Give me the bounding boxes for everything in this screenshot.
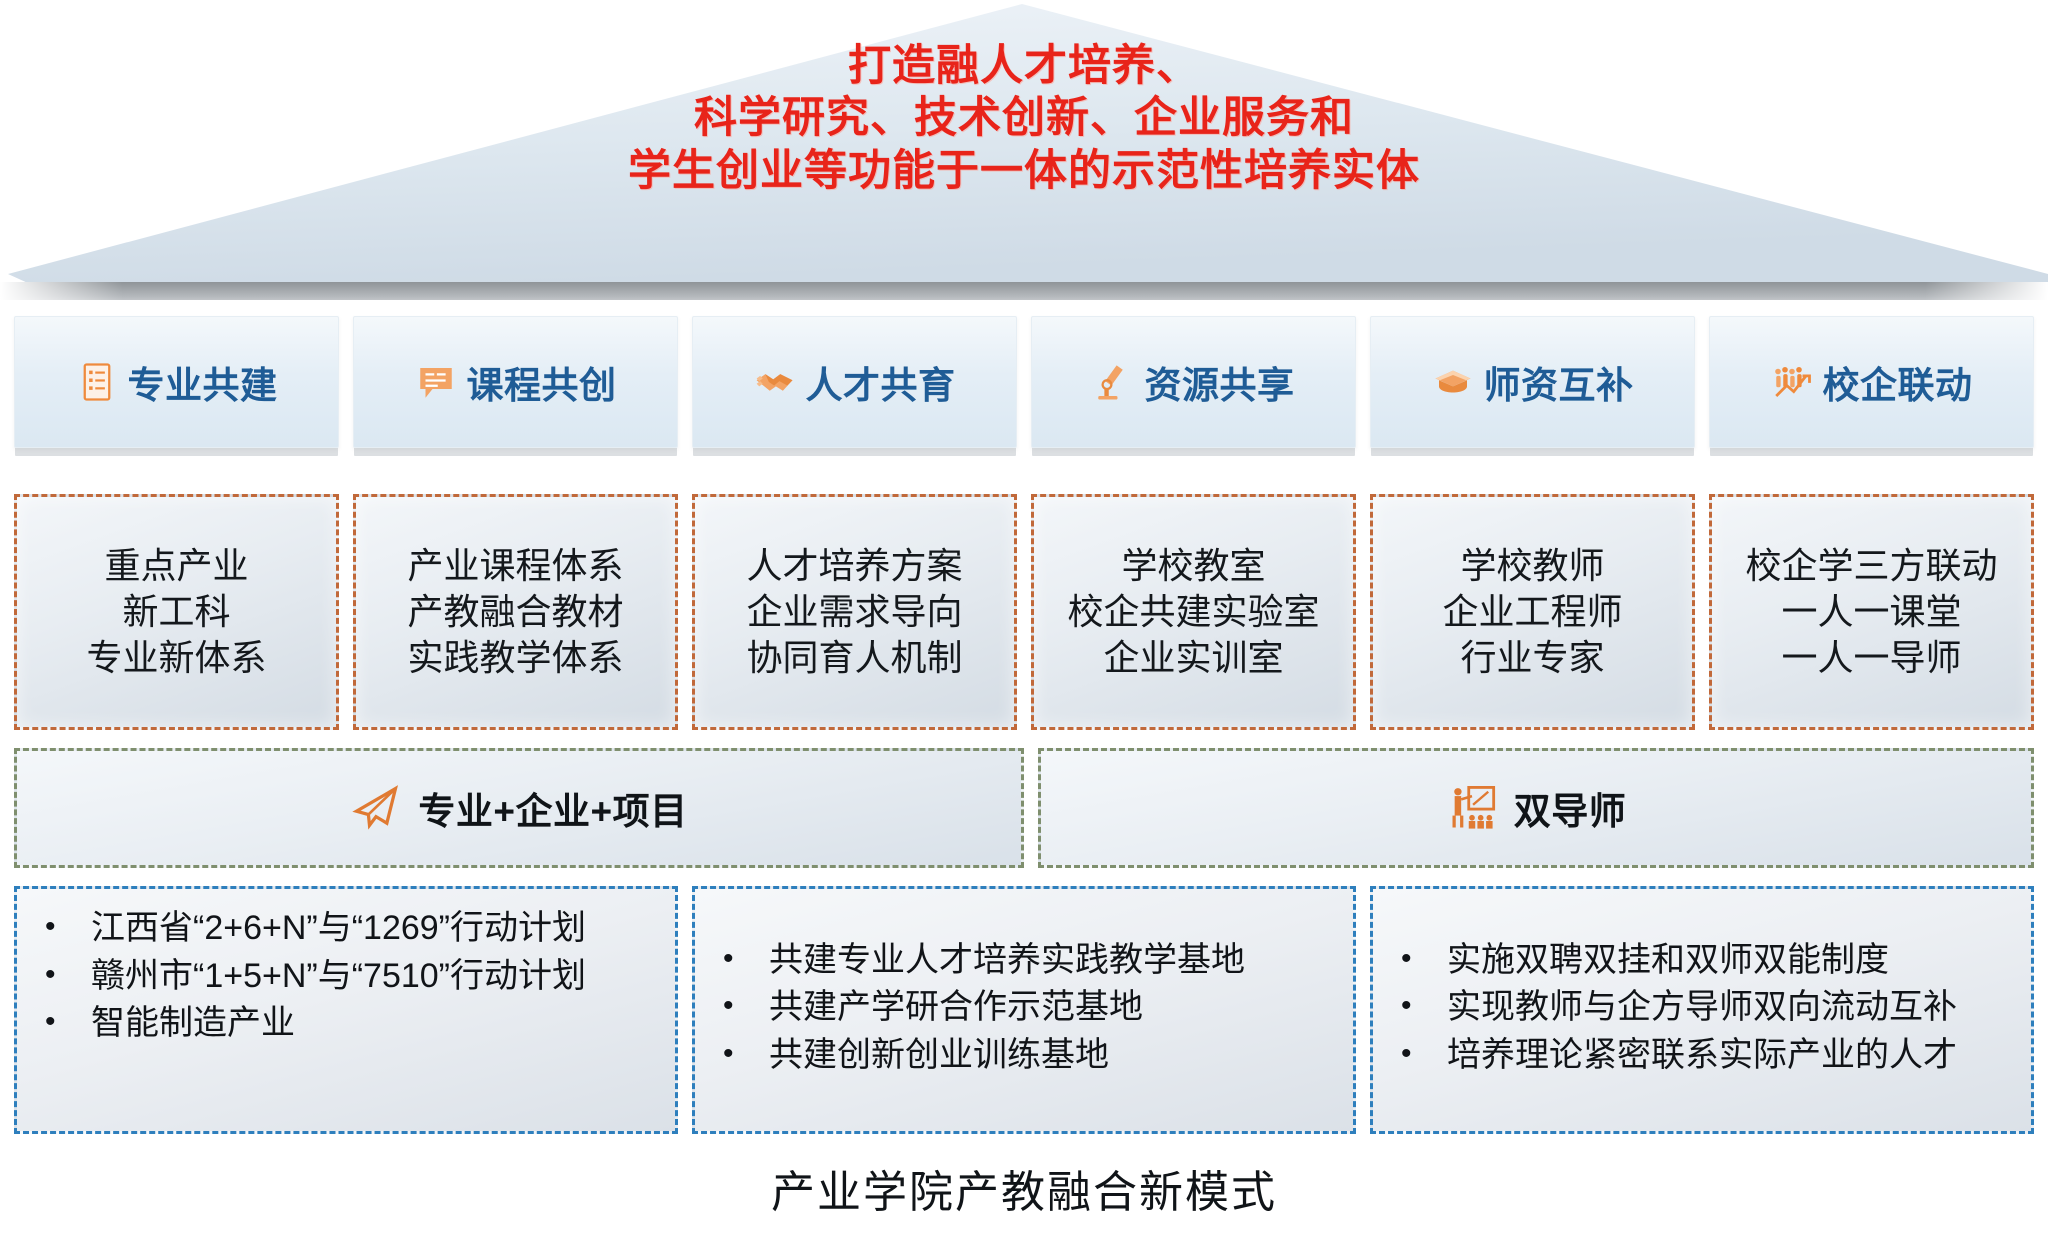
mid-box-label: 双导师: [1514, 781, 1627, 835]
detail-line: 一人一课堂: [1745, 589, 1997, 635]
detail-line: 人才培养方案: [746, 543, 962, 589]
list-item: • 实施双聘双挂和双师双能制度: [1401, 939, 2021, 983]
roof-title-line-1: 打造融人才培养、: [0, 40, 2048, 92]
list-item: • 培养理论紧密联系实际产业的人才: [1401, 1034, 2021, 1078]
detail-line: 实践教学体系: [407, 635, 623, 681]
detail-line: 协同育人机制: [746, 635, 962, 681]
detail-line: 企业需求导向: [746, 589, 962, 635]
list-item: • 共建专业人才培养实践教学基地: [723, 939, 1343, 983]
bullet-marker: •: [45, 955, 91, 995]
detail-line: 校企学三方联动: [1745, 543, 1997, 589]
mid-box-major-enterprise-project: 专业+企业+项目: [14, 748, 1024, 868]
list-item-text: 共建创新创业训练基地: [769, 1034, 1343, 1078]
list-item-text: 共建专业人才培养实践教学基地: [769, 939, 1343, 983]
detail-line: 产教融合教材: [407, 589, 623, 635]
bullet-marker: •: [1401, 1034, 1447, 1074]
list-item-text: 实施双聘双挂和双师双能制度: [1447, 939, 2021, 983]
pillar-card-shizi-hubu[interactable]: 师资互补: [1370, 316, 1695, 448]
list-item-text: 培养理论紧密联系实际产业的人才: [1447, 1034, 2021, 1078]
bullet-marker: •: [723, 1034, 769, 1074]
mid-box-dual-mentor: 双导师: [1038, 748, 2034, 868]
detail-line: 企业工程师: [1442, 589, 1622, 635]
list-item: • 智能制造产业: [45, 1002, 665, 1046]
bottom-box-2: • 共建专业人才培养实践教学基地 • 共建产学研合作示范基地 • 共建创新创业训…: [692, 886, 1356, 1134]
bullet-marker: •: [1401, 986, 1447, 1026]
list-item-text: 共建产学研合作示范基地: [769, 986, 1343, 1030]
detail-box-2: 产业课程体系 产教融合教材 实践教学体系: [353, 494, 678, 730]
list-item-text: 实现教师与企方导师双向流动互补: [1447, 986, 2021, 1030]
detail-line: 一人一导师: [1745, 635, 1997, 681]
pillar-label: 课程共创: [467, 355, 617, 409]
detail-line: 学校教室: [1067, 543, 1319, 589]
pillar-card-zhuanye-gongjian[interactable]: 专业共建: [14, 316, 339, 448]
pillar-label: 师资互补: [1484, 355, 1634, 409]
list-item: • 共建产学研合作示范基地: [723, 986, 1343, 1030]
list-item: • 实现教师与企方导师双向流动互补: [1401, 986, 2021, 1030]
pillar-header-row: 专业共建 课程共创: [14, 316, 2034, 448]
bottom-box-1: • 江西省“2+6+N”与“1269”行动计划 • 赣州市“1+5+N”与“75…: [14, 886, 678, 1134]
roof-section: 打造融人才培养、 科学研究、技术创新、企业服务和 学生创业等功能于一体的示范性培…: [0, 0, 2048, 300]
list-item-text: 赣州市“1+5+N”与“7510”行动计划: [91, 955, 665, 999]
pillar-card-kecheng-gongchuang[interactable]: 课程共创: [353, 316, 678, 448]
pillar-card-xiaoqi-liandong[interactable]: 校企联动: [1709, 316, 2034, 448]
pillar-label: 人才共育: [806, 355, 956, 409]
detail-line: 行业专家: [1442, 635, 1622, 681]
bullet-list: • 江西省“2+6+N”与“1269”行动计划 • 赣州市“1+5+N”与“75…: [27, 907, 665, 1050]
list-item-text: 江西省“2+6+N”与“1269”行动计划: [91, 907, 665, 951]
roof-title-line-3: 学生创业等功能于一体的示范性培养实体: [0, 145, 2048, 197]
roof-title: 打造融人才培养、 科学研究、技术创新、企业服务和 学生创业等功能于一体的示范性培…: [0, 40, 2048, 197]
mid-row: 专业+企业+项目: [14, 748, 2034, 868]
speech-bubble-icon: [415, 361, 457, 403]
detail-line: 企业实训室: [1067, 635, 1319, 681]
teacher-board-icon: [1446, 782, 1498, 834]
list-item-text: 智能制造产业: [91, 1002, 665, 1046]
people-chart-icon: [1771, 361, 1813, 403]
list-item: • 江西省“2+6+N”与“1269”行动计划: [45, 907, 665, 951]
bottom-row: • 江西省“2+6+N”与“1269”行动计划 • 赣州市“1+5+N”与“75…: [14, 886, 2034, 1134]
detail-box-6: 校企学三方联动 一人一课堂 一人一导师: [1709, 494, 2034, 730]
bottom-box-3: • 实施双聘双挂和双师双能制度 • 实现教师与企方导师双向流动互补 • 培养理论…: [1370, 886, 2034, 1134]
pillar-label: 校企联动: [1823, 355, 1973, 409]
pillar-label: 专业共建: [128, 355, 278, 409]
figure-caption: 产业学院产教融合新模式: [0, 1156, 2048, 1220]
list-item: • 共建创新创业训练基地: [723, 1034, 1343, 1078]
bullet-list: • 实施双聘双挂和双师双能制度 • 实现教师与企方导师双向流动互补 • 培养理论…: [1383, 939, 2021, 1082]
bullet-marker: •: [1401, 939, 1447, 979]
detail-line: 学校教师: [1442, 543, 1622, 589]
list-item: • 赣州市“1+5+N”与“7510”行动计划: [45, 955, 665, 999]
bullet-marker: •: [723, 939, 769, 979]
pillar-card-ziyuan-gongxiang[interactable]: 资源共享: [1031, 316, 1356, 448]
graduation-cap-icon: [1432, 361, 1474, 403]
paper-plane-icon: [350, 782, 402, 834]
detail-box-4: 学校教室 校企共建实验室 企业实训室: [1031, 494, 1356, 730]
checklist-icon: [76, 361, 118, 403]
pillar-card-rencai-gongyu[interactable]: 人才共育: [692, 316, 1017, 448]
detail-box-5: 学校教师 企业工程师 行业专家: [1370, 494, 1695, 730]
pillar-label: 资源共享: [1145, 355, 1295, 409]
microscope-icon: [1093, 361, 1135, 403]
bullet-marker: •: [45, 1002, 91, 1042]
detail-line: 重点产业: [86, 543, 266, 589]
detail-box-3: 人才培养方案 企业需求导向 协同育人机制: [692, 494, 1017, 730]
detail-line: 新工科: [86, 589, 266, 635]
diagram-canvas: 打造融人才培养、 科学研究、技术创新、企业服务和 学生创业等功能于一体的示范性培…: [0, 0, 2048, 1260]
handshake-icon: [754, 361, 796, 403]
detail-line: 专业新体系: [86, 635, 266, 681]
bullet-marker: •: [45, 907, 91, 947]
detail-box-1: 重点产业 新工科 专业新体系: [14, 494, 339, 730]
mid-box-label: 专业+企业+项目: [418, 781, 687, 835]
bullet-list: • 共建专业人才培养实践教学基地 • 共建产学研合作示范基地 • 共建创新创业训…: [705, 939, 1343, 1082]
detail-row: 重点产业 新工科 专业新体系 产业课程体系 产教融合教材 实践教学体系 人才培养…: [14, 494, 2034, 730]
detail-line: 校企共建实验室: [1067, 589, 1319, 635]
detail-line: 产业课程体系: [407, 543, 623, 589]
roof-title-line-2: 科学研究、技术创新、企业服务和: [0, 92, 2048, 144]
bullet-marker: •: [723, 986, 769, 1026]
